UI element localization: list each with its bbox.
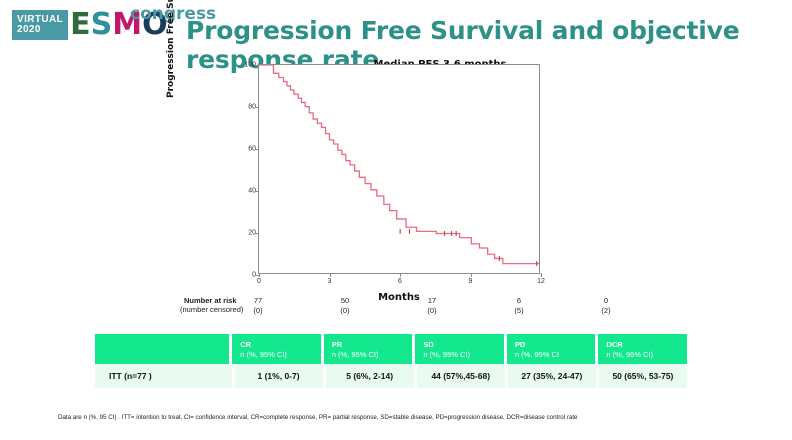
x-tick-mark (400, 273, 401, 277)
at-risk-count: 0 (586, 296, 626, 305)
esmo-letter-e: E (70, 10, 91, 40)
footnote: Data are n (%, 95 CI) . ITT= intention t… (58, 414, 778, 421)
number-at-risk-column: 77(0) (238, 296, 278, 315)
y-tick-mark (255, 65, 259, 66)
header-code: DCR (606, 340, 687, 350)
x-tick-mark (330, 273, 331, 277)
table-header-cr: CRn (%, 95% CI) (232, 334, 321, 364)
y-axis-label: Progression Free Survival (%) (166, 0, 176, 98)
header-subtext: n (%, 95% CI) (240, 350, 321, 360)
number-at-risk-column: 50(0) (325, 296, 365, 315)
table-header-pr: PRn (%, 95% CI) (324, 334, 413, 364)
table-header-sd: SDn (%, 95% CI) (415, 334, 504, 364)
table-body: ITT (n=77 )1 (1%, 0-7)5 (6%, 2-14)44 (57… (95, 364, 687, 388)
cell-sd: 44 (57%,45-68) (417, 364, 505, 388)
y-tick-mark (255, 191, 259, 192)
censored-count: (0) (325, 306, 365, 315)
header-subtext: n (%, 95% CI) (606, 350, 687, 360)
number-at-risk-block: Number at risk (number censored) 77(0)50… (170, 296, 590, 320)
header-code: CR (240, 340, 321, 350)
cell-cr: 1 (1%, 0-7) (235, 364, 323, 388)
y-tick-mark (255, 149, 259, 150)
x-tick-label: 6 (398, 278, 402, 285)
plot-area: 020406080100036912 (258, 64, 540, 274)
at-risk-count: 17 (412, 296, 452, 305)
slide-root: VIRTUAL 2020 E S M O congress Progressio… (0, 0, 792, 440)
table-row: ITT (n=77 )1 (1%, 0-7)5 (6%, 2-14)44 (57… (95, 364, 687, 388)
virtual-2020-badge: VIRTUAL 2020 (12, 10, 68, 40)
esmo-logo: VIRTUAL 2020 E S M O congress (12, 4, 168, 40)
y-tick-mark (255, 107, 259, 108)
number-at-risk-label: Number at risk (184, 296, 237, 305)
number-censored-label: (number censored) (180, 305, 243, 314)
x-tick-mark (259, 273, 260, 277)
x-tick-mark (541, 273, 542, 277)
header-subtext: n (%, 95% CI) (423, 350, 504, 360)
at-risk-count: 77 (238, 296, 278, 305)
number-at-risk-column: 17(0) (412, 296, 452, 315)
km-survival-curve (259, 65, 539, 264)
y-tick-mark (255, 233, 259, 234)
year-label: 2020 (17, 25, 41, 35)
censored-count: (2) (586, 306, 626, 315)
x-tick-label: 12 (537, 278, 545, 285)
cell-pr: 5 (6%, 2-14) (326, 364, 414, 388)
censored-count: (0) (238, 306, 278, 315)
number-at-risk-column: 6(5) (499, 296, 539, 315)
censored-count: (0) (412, 306, 452, 315)
response-rate-table: CRn (%, 95% CI)PRn (%, 95% CI)SDn (%, 95… (95, 334, 687, 388)
right-edge-strip (786, 0, 792, 440)
x-tick-label: 0 (257, 278, 261, 285)
km-chart: Progression Free Survival (%) Median PFS… (210, 52, 560, 302)
header-code: PD (515, 340, 596, 350)
cell-dcr: 50 (65%, 53-75) (599, 364, 687, 388)
table-header-dcr: DCRn (%, 95% CI) (598, 334, 687, 364)
header-code: SD (423, 340, 504, 350)
number-at-risk-column: 0(2) (586, 296, 626, 315)
header-subtext: n (%, 95% CI) (332, 350, 413, 360)
table-header-corner (95, 334, 229, 364)
header-code: PR (332, 340, 413, 350)
x-tick-label: 3 (328, 278, 332, 285)
cell-pd: 27 (35%, 24-47) (508, 364, 596, 388)
table-header-pd: PDn (%, 95% CI (507, 334, 596, 364)
km-curve-svg (259, 65, 539, 273)
row-label: ITT (n=77 ) (95, 364, 232, 388)
censored-count: (5) (499, 306, 539, 315)
at-risk-count: 50 (325, 296, 365, 305)
table-header-row: CRn (%, 95% CI)PRn (%, 95% CI)SDn (%, 95… (95, 334, 687, 364)
x-tick-mark (471, 273, 472, 277)
at-risk-count: 6 (499, 296, 539, 305)
esmo-letter-s: S (91, 10, 113, 40)
header-subtext: n (%, 95% CI (515, 350, 596, 360)
x-tick-label: 9 (469, 278, 473, 285)
